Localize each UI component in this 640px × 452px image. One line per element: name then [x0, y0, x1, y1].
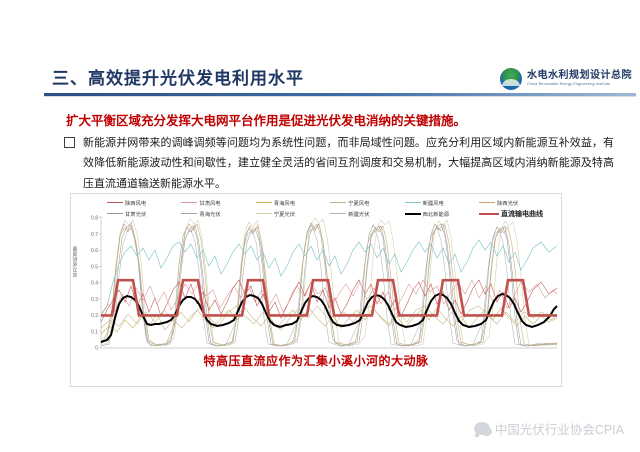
y-tick-0-5: 0.5	[91, 264, 98, 270]
square-bullet-icon	[64, 137, 75, 148]
watermark-text: 中国光伏行业协会CPIA	[495, 419, 624, 438]
lead-statement: 扩大平衡区域充分发挥大电网平台作用是促进光伏发电消纳的关键措施。	[66, 110, 606, 129]
y-tick-0-2: 0.2	[91, 313, 98, 319]
chart-container: 出力/装机容量 陕西风电 甘肃风电 青海风电 宁夏风电 新疆风电 陕西光伏 甘肃…	[70, 193, 562, 387]
title-divider-secondary	[44, 96, 636, 97]
series-northwest-total	[101, 294, 557, 342]
logo-text-block: 水电水利规划设计总院 China Renewable Energy Engine…	[527, 71, 632, 87]
y-tick-0-7: 0.7	[91, 232, 98, 238]
slide: 三、高效提升光伏发电利用水平 水电水利规划设计总院 China Renewabl…	[0, 0, 640, 452]
wechat-watermark: 中国光伏行业协会CPIA	[474, 419, 624, 438]
y-tick-0-8: 0.8	[91, 216, 98, 222]
bullet-item: 新能源并网带来的调峰调频等问题均为系统性问题，而非局域性问题。应充分利用区域内新…	[64, 133, 614, 194]
page-title: 三、高效提升光伏发电利用水平	[52, 64, 304, 89]
wechat-icon	[474, 422, 490, 435]
y-axis: 0 0.1 0.2 0.3 0.4 0.5 0.6 0.7 0.8	[91, 216, 101, 352]
logo-name-cn: 水电水利规划设计总院	[527, 71, 632, 81]
y-tick-0-3: 0.3	[91, 297, 98, 303]
y-tick-0-1: 0.1	[91, 329, 98, 335]
bullet-paragraph: 新能源并网带来的调峰调频等问题均为系统性问题，而非局域性问题。应充分利用区域内新…	[83, 133, 614, 194]
logo-name-en: China Renewable Energy Engineering Insti…	[527, 83, 632, 87]
slide-title-bar: 三、高效提升光伏发电利用水平 水电水利规划设计总院 China Renewabl…	[44, 62, 636, 98]
y-tick-0: 0	[95, 346, 98, 352]
y-tick-0-4: 0.4	[91, 281, 98, 287]
creei-logo-icon	[500, 68, 522, 90]
y-tick-0-6: 0.6	[91, 248, 98, 254]
chart-caption: 特高压直流应作为汇集小溪小河的大动脉	[71, 352, 561, 369]
organization-logo: 水电水利规划设计总院 China Renewable Energy Engine…	[500, 66, 632, 92]
